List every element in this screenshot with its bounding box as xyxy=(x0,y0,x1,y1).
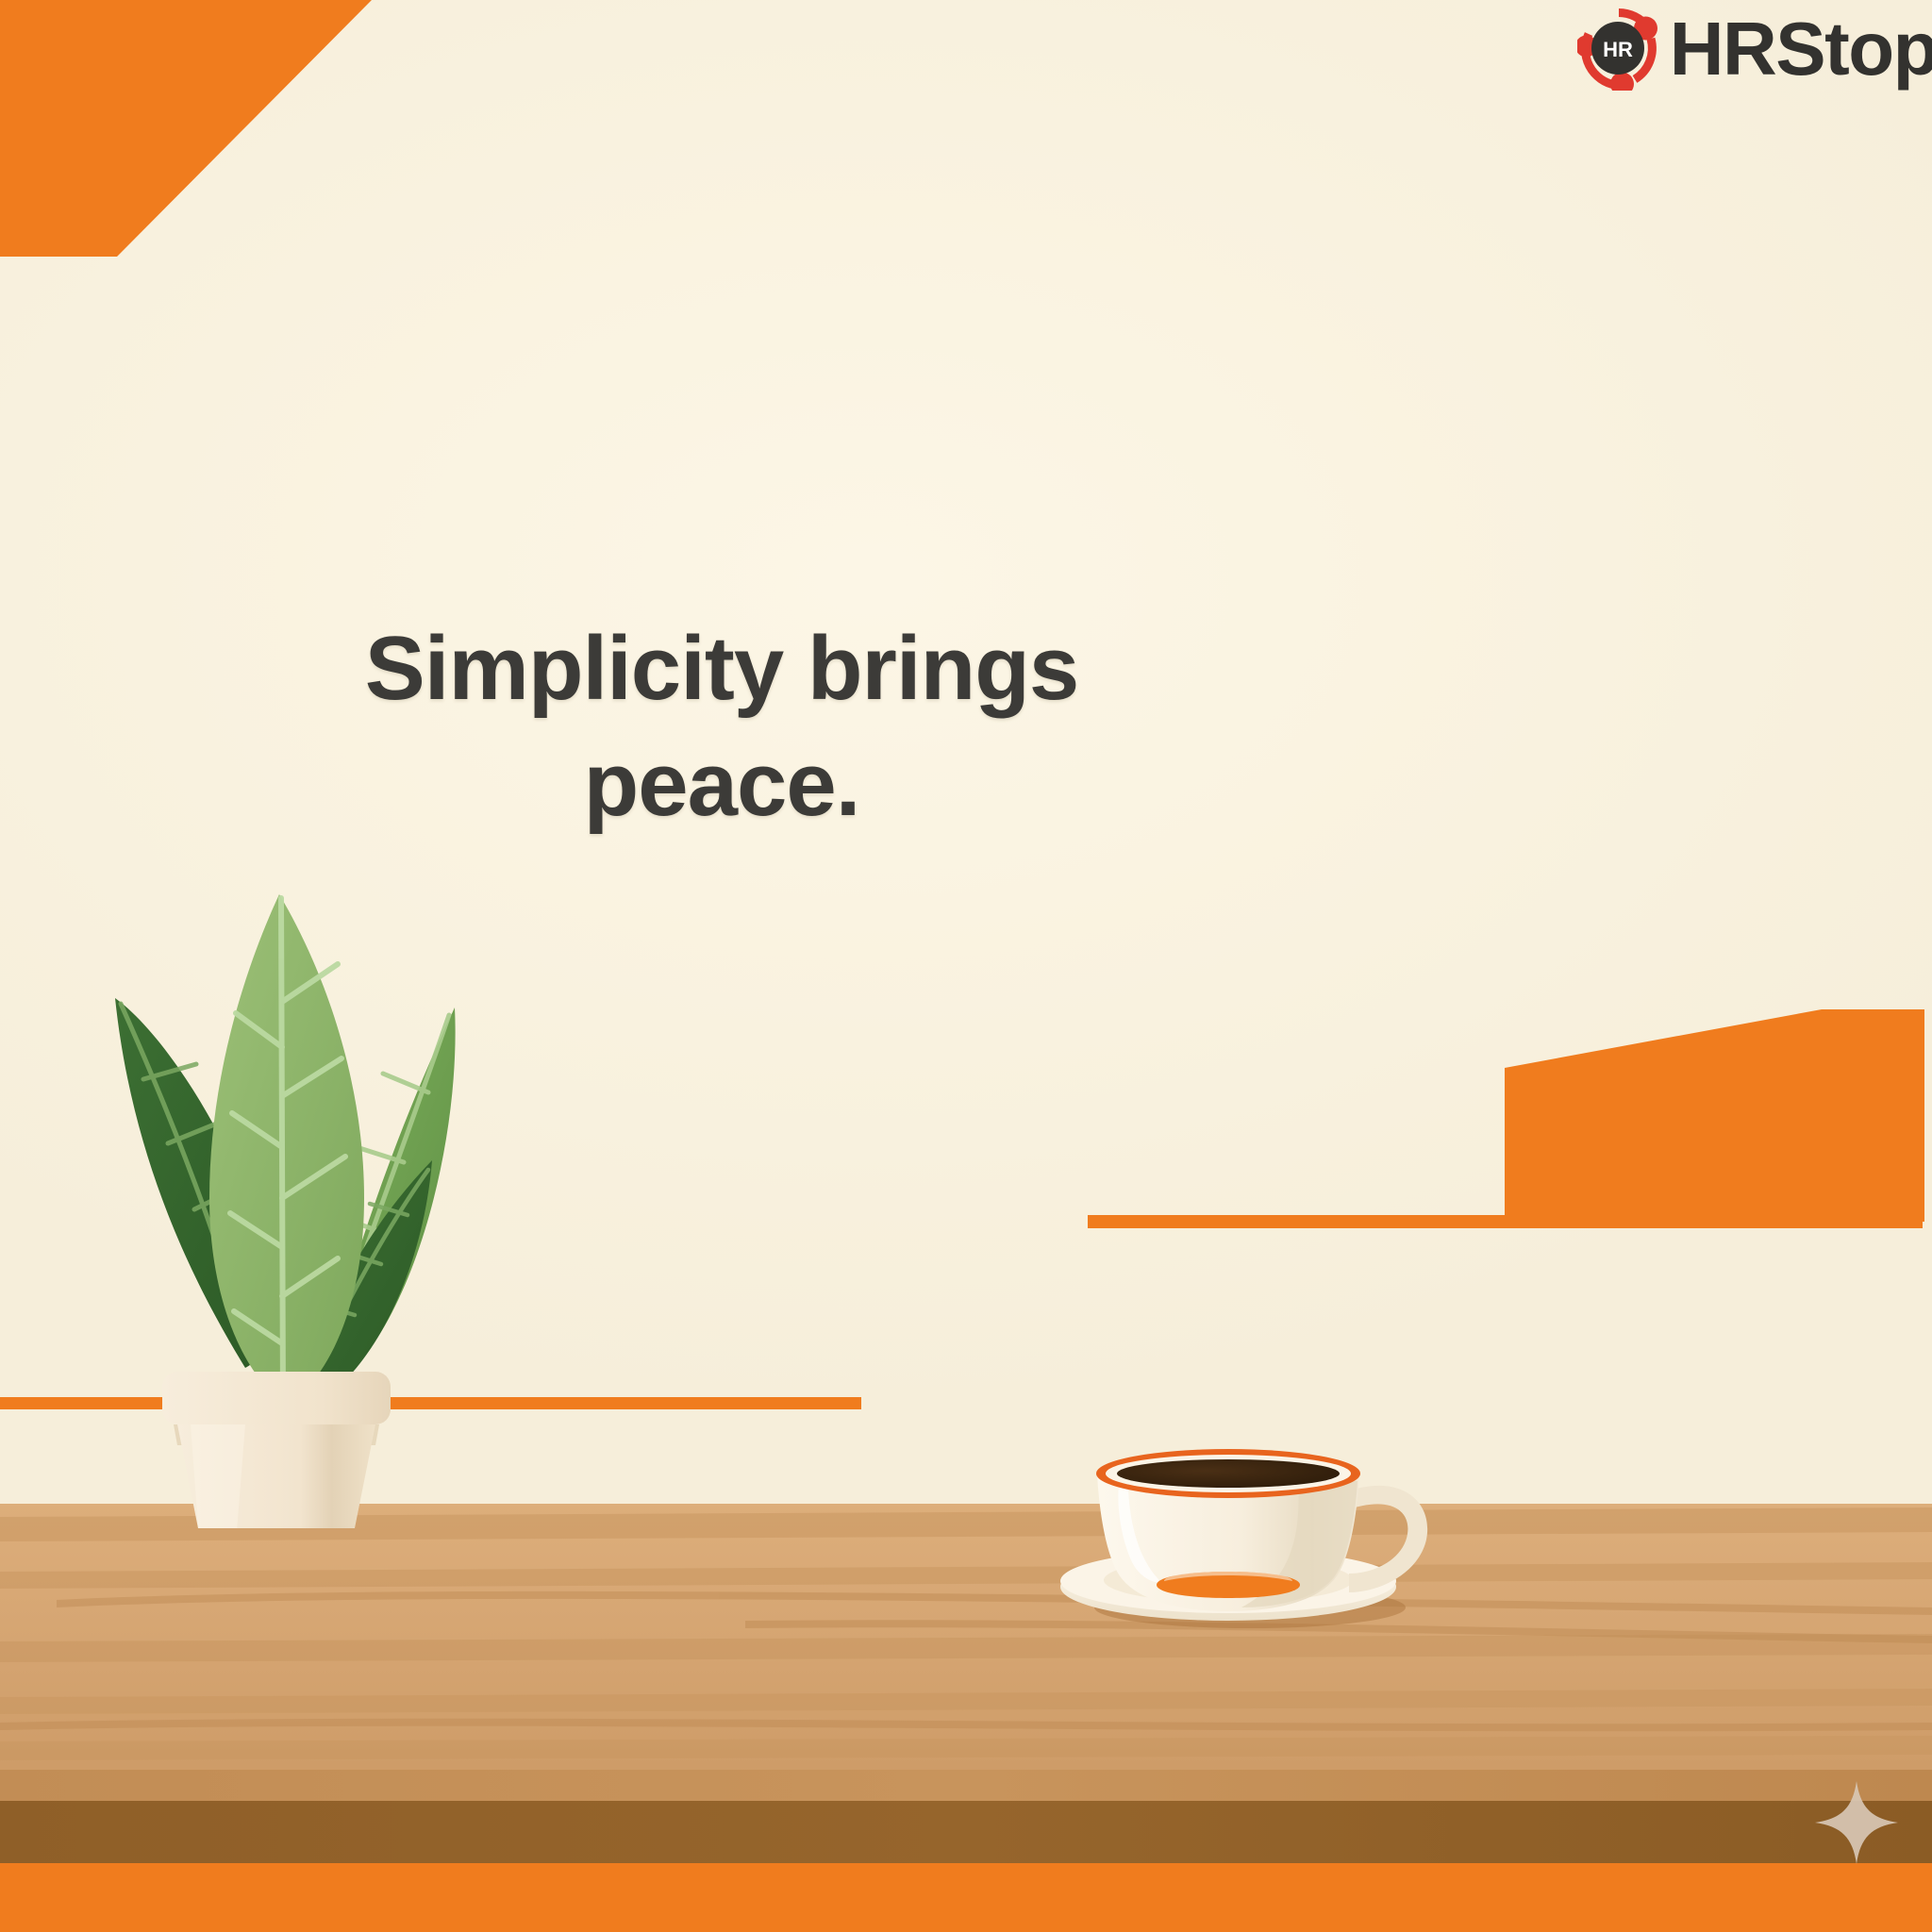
coffee-liquid xyxy=(1117,1459,1340,1488)
logo-mark-label: HR xyxy=(1603,38,1633,61)
wooden-table xyxy=(0,1504,1932,1932)
hrstop-logo[interactable]: HR HRStop xyxy=(1577,8,1932,91)
coffee-cup-and-saucer xyxy=(1019,1330,1443,1641)
poster-canvas: HR HRStop Simplicity brings peace. xyxy=(0,0,1932,1932)
quote-line-2: peace. xyxy=(0,727,1443,843)
potted-plant xyxy=(104,877,462,1528)
quote-line-1: Simplicity brings xyxy=(0,611,1443,727)
orange-accent-bar-right xyxy=(1088,1215,1923,1228)
quote-text: Simplicity brings peace. xyxy=(0,611,1443,843)
hrstop-wordmark: HRStop xyxy=(1670,13,1932,85)
plant-pot xyxy=(162,1372,391,1528)
four-point-sparkle-icon xyxy=(1813,1779,1900,1866)
leaf-light-center xyxy=(209,894,364,1406)
hrstop-circle-icon: HR xyxy=(1577,8,1660,91)
